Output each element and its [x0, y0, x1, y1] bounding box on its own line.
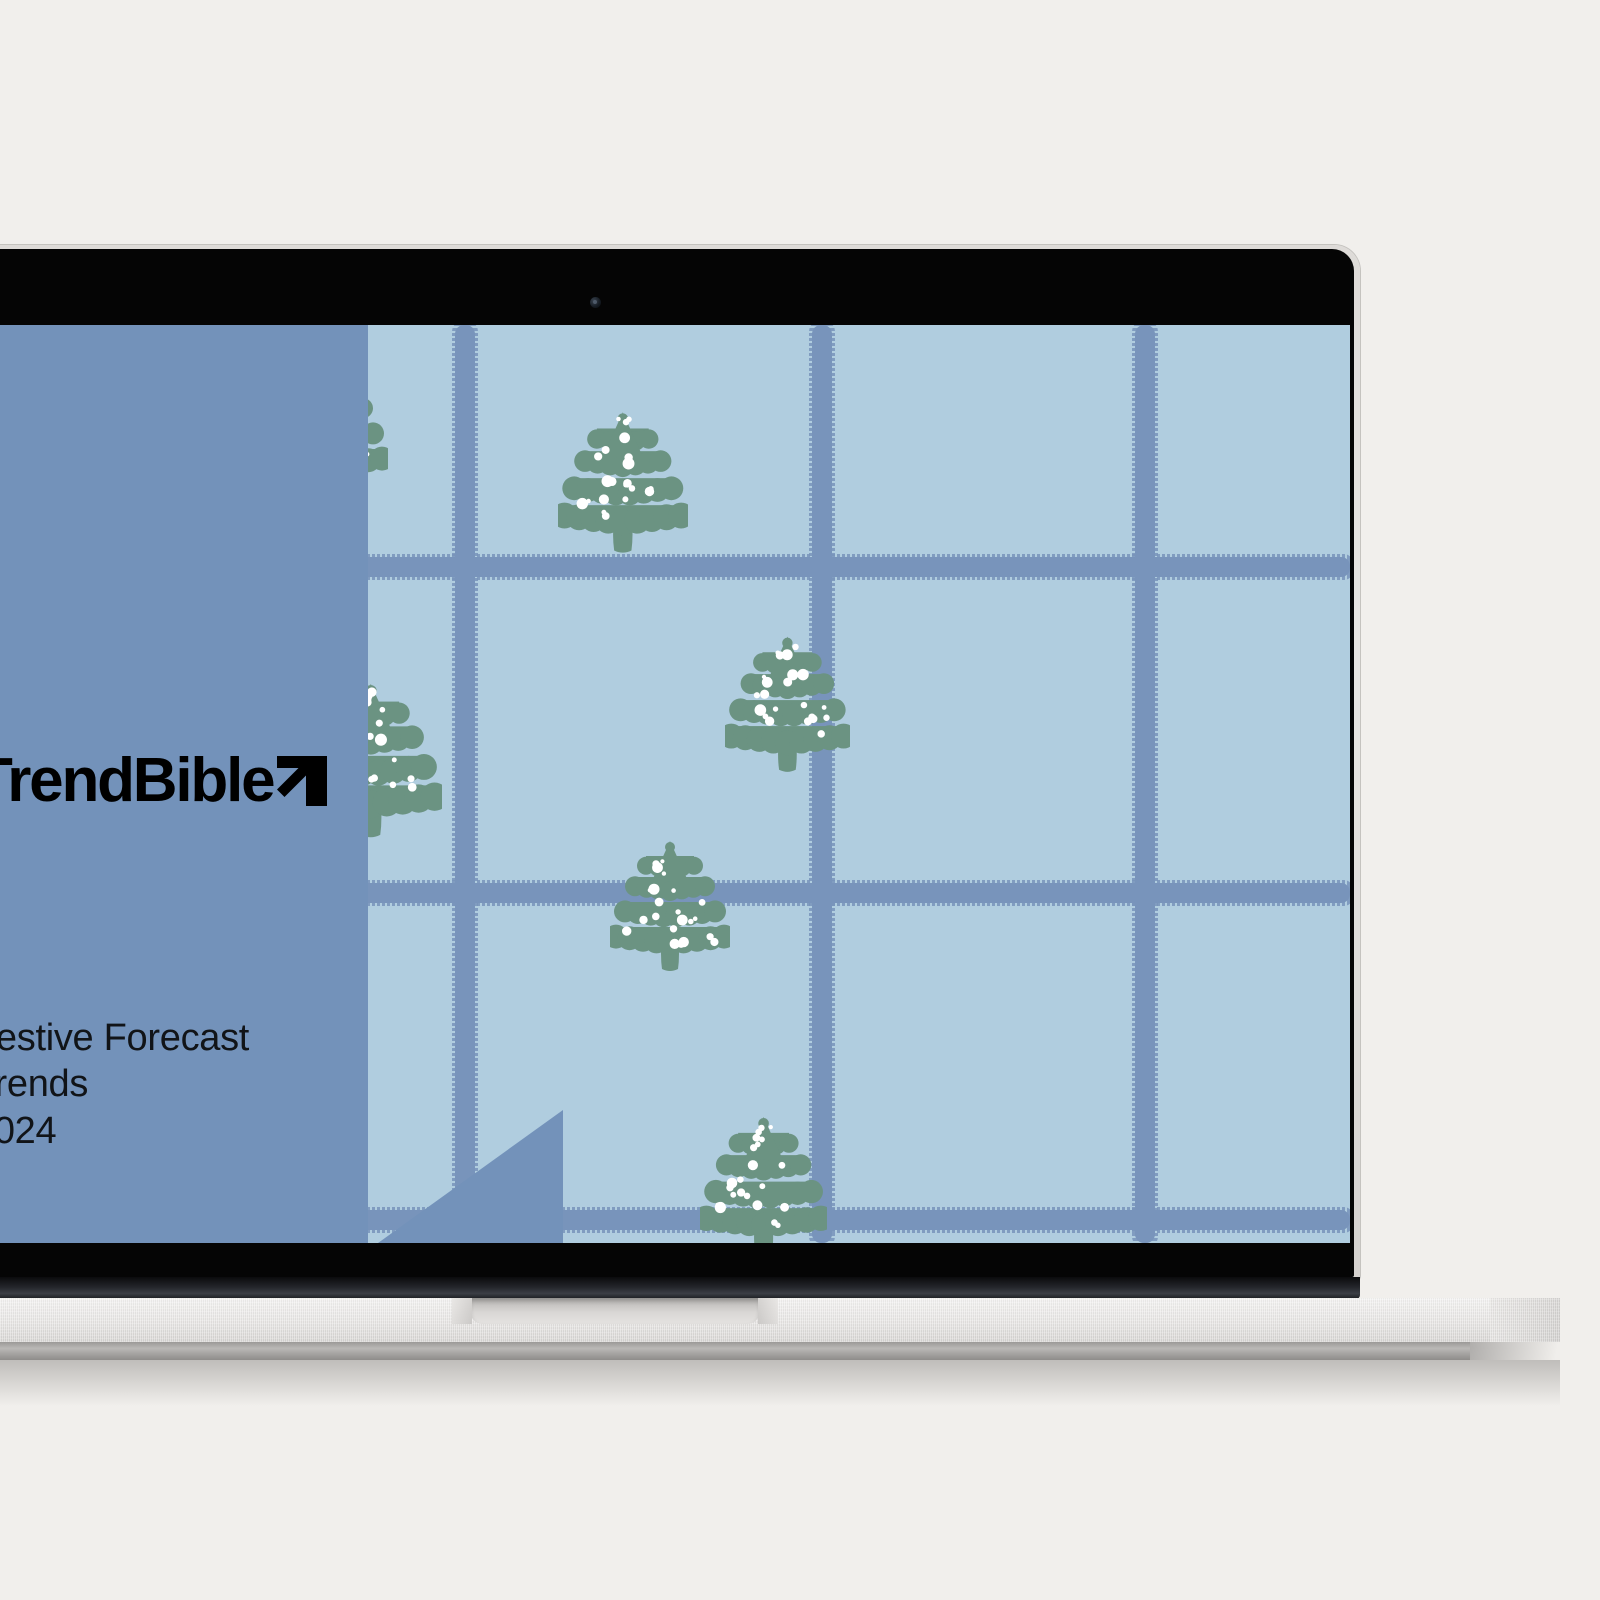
laptop-lid-notch: [470, 1298, 760, 1324]
slide-title: Festive Forecast Trends 2024: [0, 1015, 249, 1154]
presentation-slide: TrendBible Festive Forecast Trends 2024: [0, 325, 1350, 1243]
laptop-screen[interactable]: TrendBible Festive Forecast Trends 2024: [0, 325, 1350, 1243]
arrow-up-right-icon: [277, 756, 327, 806]
laptop-mockup: TrendBible Festive Forecast Trends 2024: [0, 245, 1360, 1425]
slide-title-line-3: 2024: [0, 1108, 249, 1154]
logo-wordmark: TrendBible: [0, 750, 273, 812]
brand-logo: TrendBible: [0, 750, 327, 812]
screenshot-stage: TrendBible Festive Forecast Trends 2024: [0, 0, 1600, 1600]
slide-title-line-1: Festive Forecast: [0, 1015, 249, 1061]
slide-title-line-2: Trends: [0, 1061, 249, 1107]
webcam-icon: [590, 297, 601, 308]
laptop-base: [0, 1298, 1560, 1342]
laptop-hinge: [0, 1277, 1360, 1299]
laptop-base-edge: [0, 1342, 1560, 1360]
laptop-shadow: [0, 1360, 1560, 1406]
base-texture: [0, 1298, 1560, 1342]
